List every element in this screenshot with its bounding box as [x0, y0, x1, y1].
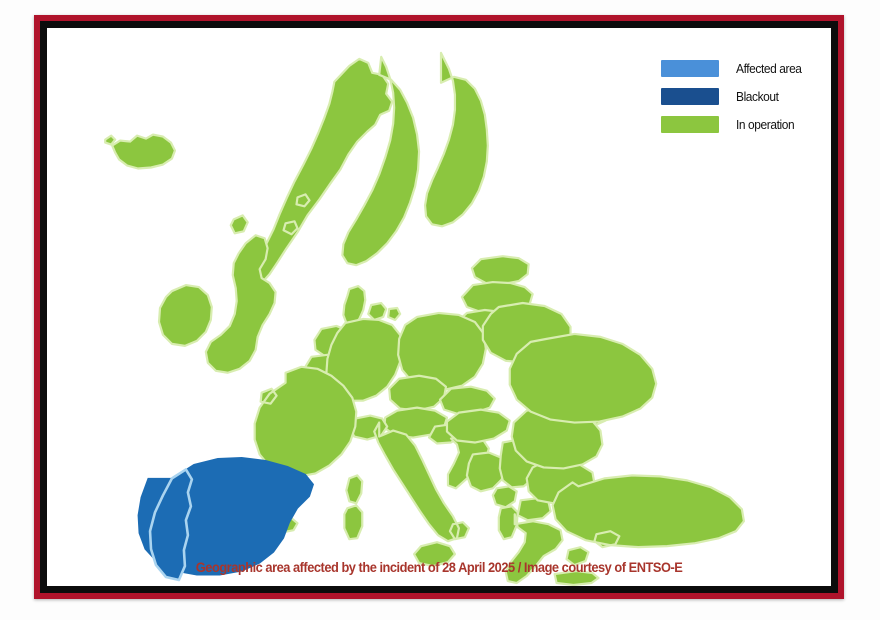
- figure-caption-text: Geographic area affected by the incident…: [196, 560, 683, 575]
- legend-label-affected-area: Affected area: [736, 61, 802, 76]
- legend-swatch-in-operation: [661, 116, 719, 133]
- legend-item-blackout[interactable]: Blackout: [661, 88, 807, 105]
- legend-swatch-affected-area: [661, 60, 719, 77]
- screenshot-root: Affected area Blackout In operation Geog…: [0, 0, 880, 620]
- figure-frame: Affected area Blackout In operation Geog…: [34, 15, 844, 599]
- figure-caption: Geographic area affected by the incident…: [47, 560, 831, 575]
- figure-card: Affected area Blackout In operation Geog…: [47, 28, 831, 586]
- figure-frame-inner: Affected area Blackout In operation Geog…: [40, 21, 838, 593]
- legend-label-in-operation: In operation: [736, 117, 794, 132]
- legend-label-blackout: Blackout: [736, 89, 779, 104]
- legend-item-affected-area[interactable]: Affected area: [661, 60, 807, 77]
- legend-swatch-blackout: [661, 88, 719, 105]
- legend-item-in-operation[interactable]: In operation: [661, 116, 807, 133]
- region-estonia: [472, 256, 529, 284]
- region-sardinia: [344, 505, 362, 539]
- map-legend: Affected area Blackout In operation: [661, 60, 807, 133]
